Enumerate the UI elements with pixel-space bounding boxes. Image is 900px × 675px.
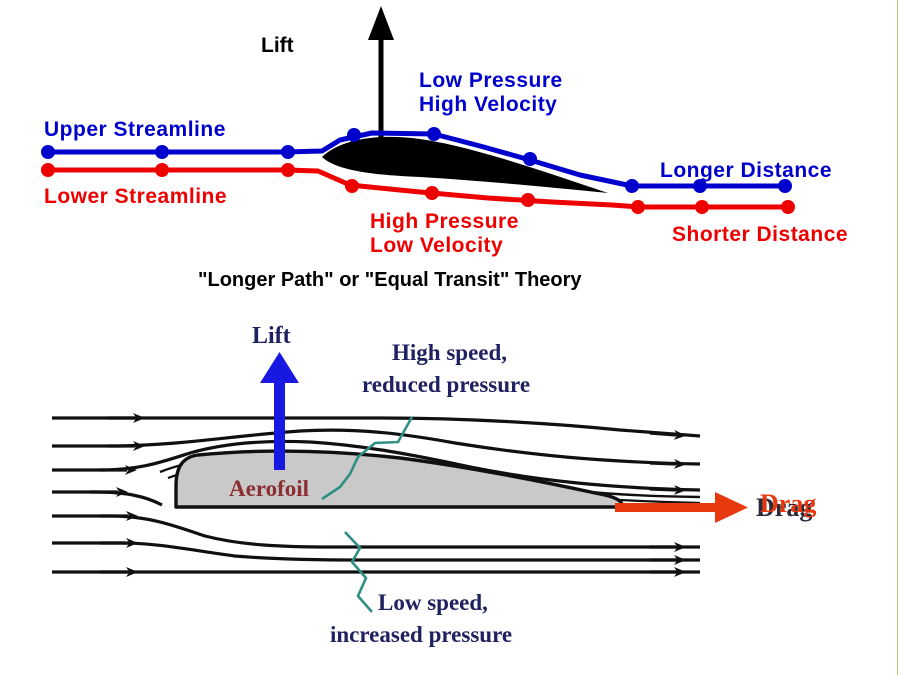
high-speed-label-line1: High speed, (392, 340, 507, 365)
lift-label-top: Lift (261, 34, 294, 57)
right-edge-border (897, 0, 898, 675)
low-speed-label-line2: increased pressure (330, 622, 512, 647)
high-pressure-label-line1: High Pressure (370, 210, 519, 233)
top-diagram: Lift Low Pressure High Velocity Upper St… (0, 0, 900, 300)
diagram-page: Lift Low Pressure High Velocity Upper St… (0, 0, 900, 675)
streamline-5 (52, 516, 700, 547)
drag-label: Drag (760, 489, 816, 518)
high-pressure-label-line2: Low Velocity (370, 234, 503, 257)
drag-label-group: Drag Drag (756, 489, 816, 522)
low-speed-label-line1: Low speed, (378, 590, 488, 615)
low-pressure-label-line1: Low Pressure (419, 69, 563, 92)
low-pressure-label-line2: High Velocity (419, 93, 557, 116)
lift-arrow-top (368, 6, 394, 145)
lift-label-bottom: Lift (252, 323, 291, 349)
upper-streamline-label: Upper Streamline (44, 118, 226, 141)
bottom-diagram: Lift High speed, reduced pressure Aerofo… (0, 300, 900, 675)
longer-distance-label: Longer Distance (660, 159, 832, 182)
streamline-4 (52, 492, 162, 505)
aerofoil-label: Aerofoil (229, 476, 309, 501)
top-diagram-caption: "Longer Path" or "Equal Transit" Theory (198, 269, 582, 291)
lower-streamline-label: Lower Streamline (44, 185, 227, 208)
high-speed-label-line2: reduced pressure (362, 372, 530, 397)
shorter-distance-label: Shorter Distance (672, 223, 848, 246)
